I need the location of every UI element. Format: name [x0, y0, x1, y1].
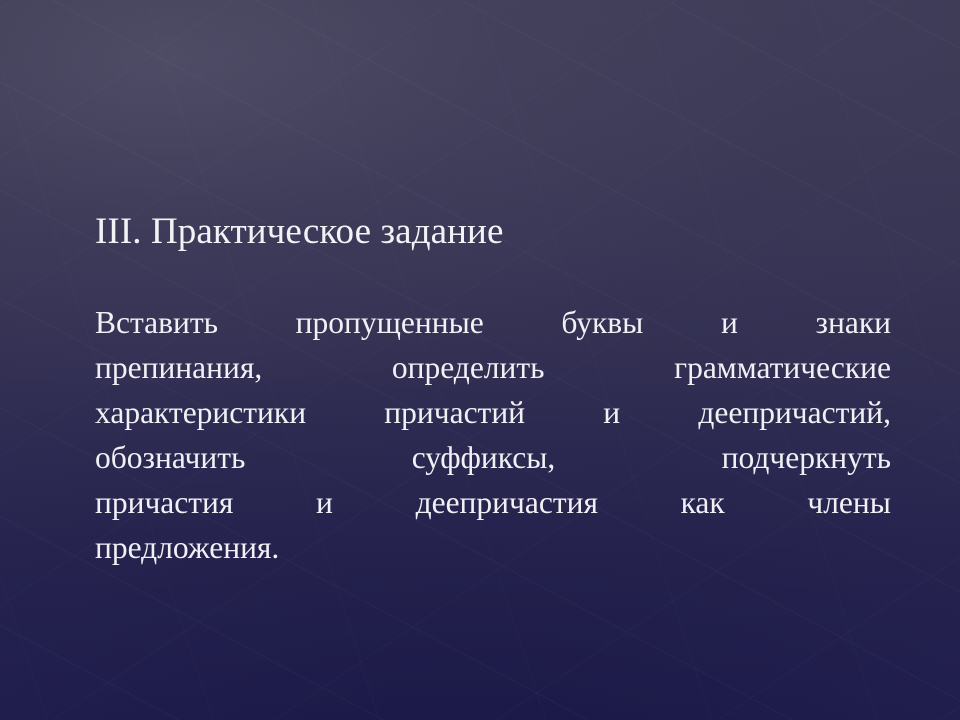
slide-content: III. Практическое задание Вставить пропу… [95, 0, 891, 720]
body-word: как [681, 480, 725, 525]
body-line: обозначить суффиксы, подчеркнуть [95, 435, 891, 480]
slide-body-text: Вставить пропущенные буквы и знаки препи… [95, 300, 891, 570]
body-word: деепричастий, [698, 390, 891, 435]
body-line: Вставить пропущенные буквы и знаки [95, 300, 891, 345]
presentation-slide: III. Практическое задание Вставить пропу… [0, 0, 960, 720]
body-word: обозначить [95, 435, 245, 480]
body-line: причастия и деепричастия как члены [95, 480, 891, 525]
body-word: члены [807, 480, 891, 525]
body-word: знаки [816, 300, 891, 345]
body-line: предложения. [95, 525, 891, 570]
body-word: определить [392, 345, 545, 390]
body-word: пропущенные [296, 300, 484, 345]
body-word: причастия [95, 480, 233, 525]
body-word: препинания, [95, 345, 262, 390]
body-word: предложения. [95, 530, 279, 565]
body-word: грамматические [674, 345, 891, 390]
body-line: характеристики причастий и деепричастий, [95, 390, 891, 435]
body-word: характеристики [95, 390, 306, 435]
body-word: буквы [561, 300, 643, 345]
slide-title: III. Практическое задание [95, 209, 891, 255]
body-word: причастий [384, 390, 525, 435]
body-word: и [316, 480, 333, 525]
body-word: подчеркнуть [722, 435, 891, 480]
body-word: и [603, 390, 620, 435]
body-word: и [721, 300, 738, 345]
body-word: суффиксы, [412, 435, 556, 480]
body-word: Вставить [95, 300, 218, 345]
body-line: препинания, определить грамматические [95, 345, 891, 390]
body-word: деепричастия [416, 480, 598, 525]
